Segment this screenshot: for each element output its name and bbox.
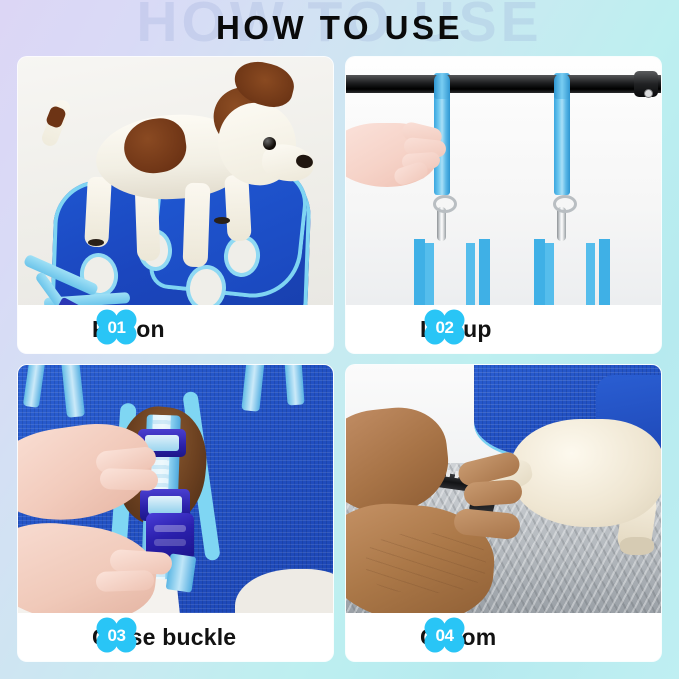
strap-top-loop [554,73,570,99]
harness-hanging-loop-inner [545,243,595,305]
step-caption-02: 02 Litf up [346,305,661,353]
step-number: 02 [422,309,467,345]
buckle-slot [154,539,186,546]
plush-dog-eye [263,137,276,150]
step-badge-01: 01 [94,309,139,345]
finger [96,570,155,592]
step-photo-01 [18,57,333,305]
step-card-04[interactable]: 04 Groom [346,365,661,661]
plush-dog-paw [214,217,230,224]
plush-dog-leg [224,174,251,241]
step-badge-04: 04 [422,617,467,653]
harness-hanging-loop-inner [425,243,475,305]
step-caption-03: 03 Close buckle [18,613,333,661]
harness-strap [284,365,304,406]
plush-dog-leg [183,183,211,268]
step-number: 03 [94,617,139,653]
plush-dog-leg [84,176,112,247]
how-to-use-infographic: HOW TO USE HOW TO USE [0,0,679,679]
dog-body [510,419,661,527]
step-number: 04 [422,617,467,653]
step-card-03[interactable]: 03 Close buckle [18,365,333,661]
bar-screw [644,89,653,98]
grooming-bar [346,75,661,93]
plush-dog-paw [88,239,104,246]
metal-clip-ring [553,195,577,213]
steps-grid: 01 Put on [18,57,661,661]
step-card-02[interactable]: 02 Litf up [346,57,661,353]
step-number: 01 [94,309,139,345]
step-photo-04 [346,365,661,613]
step-badge-02: 02 [422,309,467,345]
strap-keeper-window [148,496,182,514]
step-photo-03 [18,365,333,613]
finger [463,479,523,507]
finger [100,468,159,491]
dog-hind-paw [620,537,654,555]
step-caption-01: 01 Put on [18,305,333,353]
step-photo-02 [346,57,661,305]
step-card-01[interactable]: 01 Put on [18,57,333,353]
step-caption-04: 04 Groom [346,613,661,661]
step-badge-03: 03 [94,617,139,653]
header: HOW TO USE HOW TO USE [0,0,679,57]
palm-creases [366,533,486,593]
buckle-slot [154,525,186,532]
metal-clip-ring [433,195,457,213]
page-title: HOW TO USE [0,10,679,46]
strap-top-loop [434,73,450,99]
